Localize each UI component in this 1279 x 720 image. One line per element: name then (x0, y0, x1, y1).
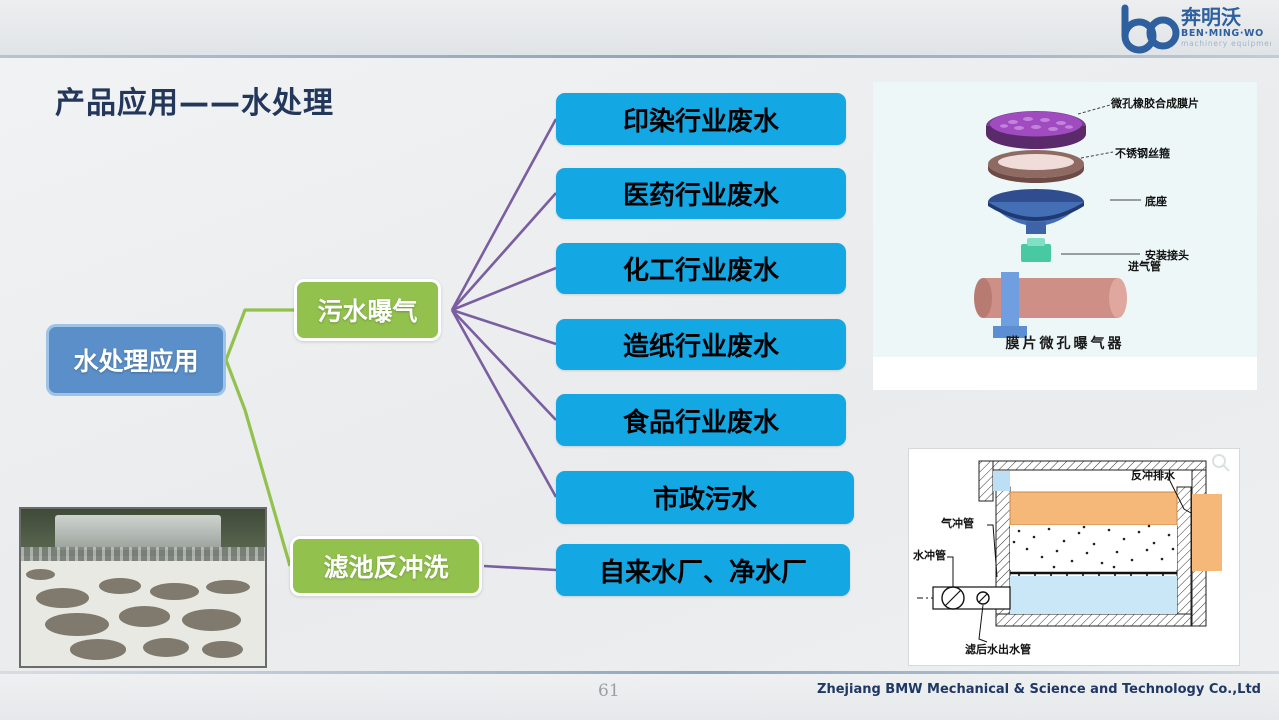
header-divider (0, 55, 1279, 58)
photo-building (55, 515, 221, 550)
filter-label-effluent-pipe: 滤后水出水管 (965, 641, 1031, 657)
svg-text:奔明沃: 奔明沃 (1180, 5, 1241, 29)
steel-ring-icon (988, 150, 1084, 183)
aerator-label-base: 底座 (1145, 193, 1167, 209)
node-root-water-treatment[interactable]: 水处理应用 (46, 324, 226, 396)
aerator-label-membrane: 微孔橡胶合成膜片 (1111, 95, 1199, 111)
svg-text:BEN·MING·WO: BEN·MING·WO (1181, 28, 1264, 39)
node-branch-filter-backwash[interactable]: 滤池反冲洗 (290, 536, 482, 596)
air-inlet-pipe-icon (974, 272, 1127, 338)
aerator-image-footer-band (873, 357, 1257, 390)
filter-label-backwash-drain: 反冲排水 (1131, 467, 1175, 483)
svg-text:machinery equipment: machinery equipment (1181, 39, 1271, 48)
page-title: 产品应用——水处理 (55, 78, 334, 122)
node-leaf-food-wastewater[interactable]: 食品行业废水 (556, 394, 846, 446)
page-number: 61 (598, 681, 620, 701)
node-branch-sewage-aeration[interactable]: 污水曝气 (294, 279, 441, 341)
slide-header (0, 0, 1279, 58)
slide: 奔明沃 BEN·MING·WO machinery equipment 产品应用… (0, 0, 1279, 720)
aeration-tank-photo (19, 507, 267, 668)
photo-railing (21, 547, 265, 561)
node-leaf-municipal-sewage[interactable]: 市政污水 (556, 471, 854, 524)
aerator-diagram: 微孔橡胶合成膜片 不锈钢丝箍 底座 安装接头 进气管 膜片微孔曝气器 (873, 82, 1257, 390)
aerator-caption: 膜片微孔曝气器 (873, 333, 1257, 353)
aerator-label-steel-ring: 不锈钢丝箍 (1115, 145, 1170, 161)
bo-monogram-icon (1125, 8, 1176, 50)
company-name: Zhejiang BMW Mechanical & Science and Te… (817, 682, 1261, 697)
node-leaf-pharmaceutical-wastewater[interactable]: 医药行业废水 (556, 168, 846, 219)
node-leaf-paper-wastewater[interactable]: 造纸行业废水 (556, 319, 846, 370)
membrane-disc-icon (986, 111, 1086, 149)
install-joint-icon (1021, 238, 1051, 262)
node-leaf-waterworks[interactable]: 自来水厂、净水厂 (556, 544, 850, 596)
slide-footer (0, 674, 1279, 720)
filter-label-air-pipe: 气冲管 (941, 515, 974, 531)
node-leaf-printing-dyeing-wastewater[interactable]: 印染行业废水 (556, 93, 846, 145)
company-logo: 奔明沃 BEN·MING·WO machinery equipment (1119, 2, 1271, 54)
filter-label-water-pipe: 水冲管 (913, 547, 946, 563)
aerator-label-air-pipe: 进气管 (1128, 258, 1161, 274)
filter-backwash-diagram: 反冲排水 气冲管 水冲管 滤后水出水管 (908, 448, 1240, 666)
base-icon (988, 189, 1084, 234)
aerator-diagram-canvas: 微孔橡胶合成膜片 不锈钢丝箍 底座 安装接头 进气管 膜片微孔曝气器 (873, 82, 1257, 357)
node-leaf-chemical-wastewater[interactable]: 化工行业废水 (556, 243, 846, 294)
